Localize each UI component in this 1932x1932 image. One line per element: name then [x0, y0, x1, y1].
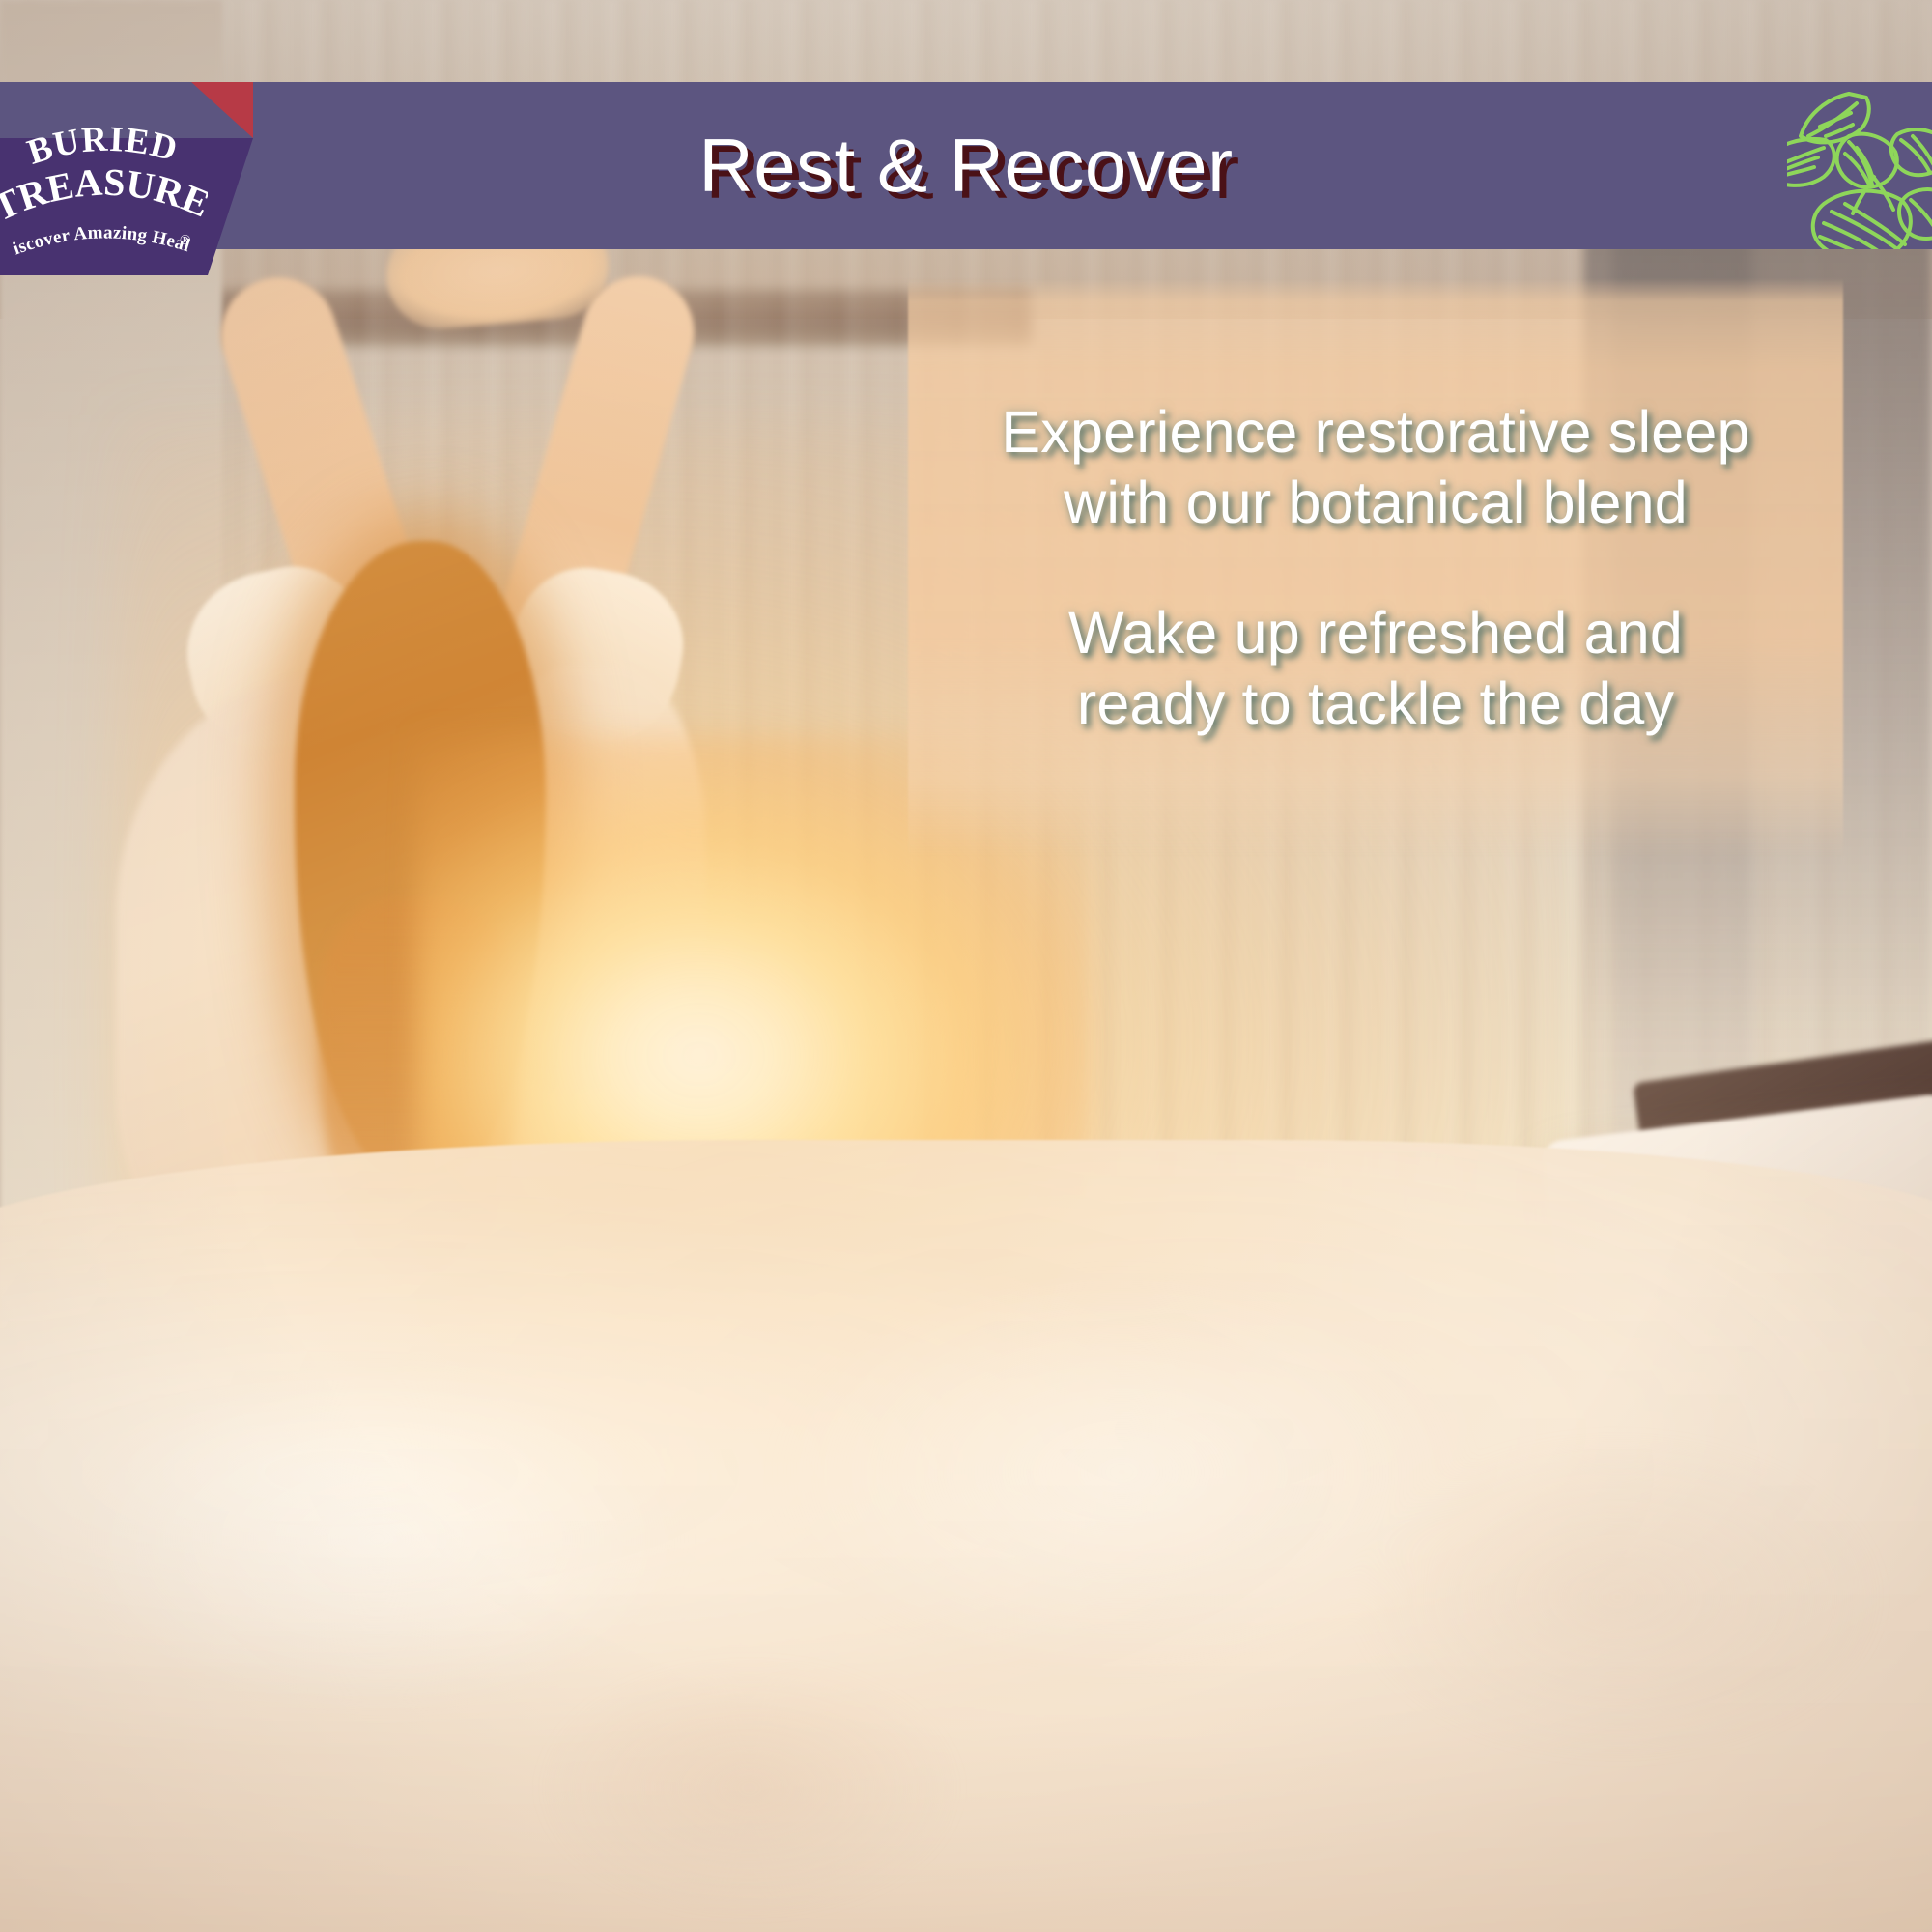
copy-p2-line1: Wake up refreshed and — [1068, 598, 1683, 668]
copy-p1-line1: Experience restorative sleep — [1001, 397, 1749, 468]
copy-p1-line2: with our botanical blend — [1064, 468, 1688, 538]
ribbon-shapes — [0, 82, 319, 290]
ribbon-accent-triangle — [191, 82, 253, 138]
ribbon-body — [0, 138, 253, 275]
brand-logo-ribbon: BURIED TREASURE ® Discover Amazing Healt… — [0, 82, 319, 290]
duvet-folds — [0, 1140, 1932, 1932]
copy-p2-line2: ready to tackle the day — [1077, 668, 1674, 739]
copy-block: Experience restorative sleep with our bo… — [908, 278, 1843, 858]
social-graphic: Experience restorative sleep with our bo… — [0, 0, 1932, 1932]
